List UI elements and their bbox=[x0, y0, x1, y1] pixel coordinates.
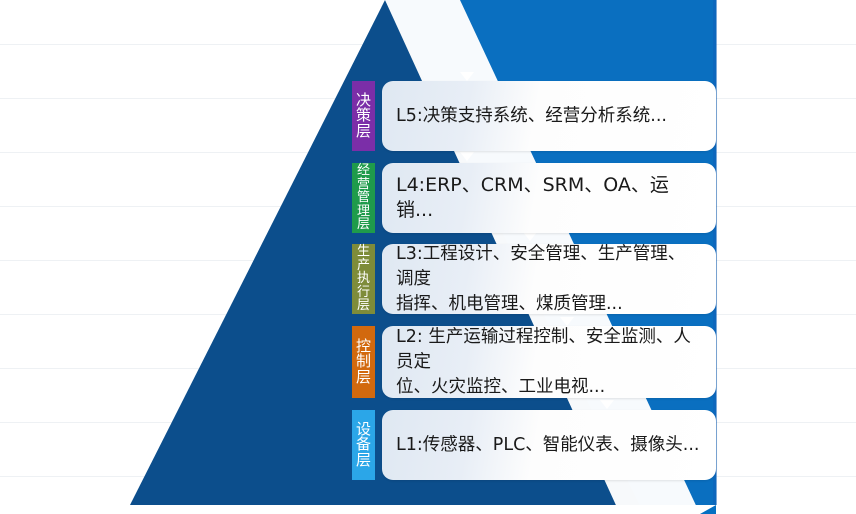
chip-char: 层 bbox=[357, 218, 370, 232]
level-row-l4[interactable]: 经 营 管 理 层 L4:ERP、CRM、SRM、OA、运销... bbox=[352, 163, 716, 233]
level-row-l3[interactable]: 生 产 执 行 层 L3:工程设计、安全管理、生产管理、调度 指挥、机电管理、煤… bbox=[352, 244, 716, 314]
level-chip-l3: 生 产 执 行 层 bbox=[352, 244, 375, 314]
chip-char: 行 bbox=[357, 286, 370, 300]
level-card-line: L1:传感器、PLC、智能仪表、摄像头... bbox=[396, 433, 700, 458]
chip-char: 经 bbox=[357, 164, 370, 178]
level-card-line: L3:工程设计、安全管理、生产管理、调度 bbox=[396, 242, 702, 292]
chip-char: 营 bbox=[357, 178, 370, 192]
chip-char: 层 bbox=[356, 453, 371, 469]
level-row-l5[interactable]: 决 策 层 L5:决策支持系统、经营分析系统... bbox=[352, 81, 716, 151]
level-rows: 决 策 层 L5:决策支持系统、经营分析系统... 经 营 管 理 层 L4: bbox=[0, 0, 856, 514]
level-chip-l5: 决 策 层 bbox=[352, 81, 375, 151]
level-chip-l4: 经 营 管 理 层 bbox=[352, 163, 375, 233]
level-card-l1[interactable]: L1:传感器、PLC、智能仪表、摄像头... bbox=[382, 410, 716, 480]
chip-char: 生 bbox=[357, 245, 370, 259]
chip-char: 层 bbox=[356, 370, 371, 386]
chip-char: 理 bbox=[357, 205, 370, 219]
level-card-line: L5:决策支持系统、经营分析系统... bbox=[396, 104, 667, 129]
chip-char: 执 bbox=[357, 272, 370, 286]
chip-char: 产 bbox=[357, 259, 370, 273]
level-row-l2[interactable]: 控 制 层 L2: 生产运输过程控制、安全监测、人员定 位、火灾监控、工业电视.… bbox=[352, 326, 716, 398]
level-card-l5[interactable]: L5:决策支持系统、经营分析系统... bbox=[382, 81, 716, 151]
level-card-l2[interactable]: L2: 生产运输过程控制、安全监测、人员定 位、火灾监控、工业电视... bbox=[382, 326, 716, 398]
level-card-line: 指挥、机电管理、煤质管理... bbox=[396, 292, 702, 317]
level-card-line: L4:ERP、CRM、SRM、OA、运销... bbox=[396, 173, 702, 223]
chip-char: 层 bbox=[356, 124, 371, 140]
level-card-l3[interactable]: L3:工程设计、安全管理、生产管理、调度 指挥、机电管理、煤质管理... bbox=[382, 244, 716, 314]
diagram-canvas: 决 策 层 L5:决策支持系统、经营分析系统... 经 营 管 理 层 L4: bbox=[0, 0, 856, 514]
level-chip-l1: 设 备 层 bbox=[352, 410, 375, 480]
level-card-line: L2: 生产运输过程控制、安全监测、人员定 bbox=[396, 325, 702, 375]
level-card-l4[interactable]: L4:ERP、CRM、SRM、OA、运销... bbox=[382, 163, 716, 233]
chip-char: 管 bbox=[357, 191, 370, 205]
chip-char: 层 bbox=[357, 299, 370, 313]
level-chip-l2: 控 制 层 bbox=[352, 326, 375, 398]
level-card-line: 位、火灾监控、工业电视... bbox=[396, 375, 702, 400]
level-row-l1[interactable]: 设 备 层 L1:传感器、PLC、智能仪表、摄像头... bbox=[352, 410, 716, 480]
